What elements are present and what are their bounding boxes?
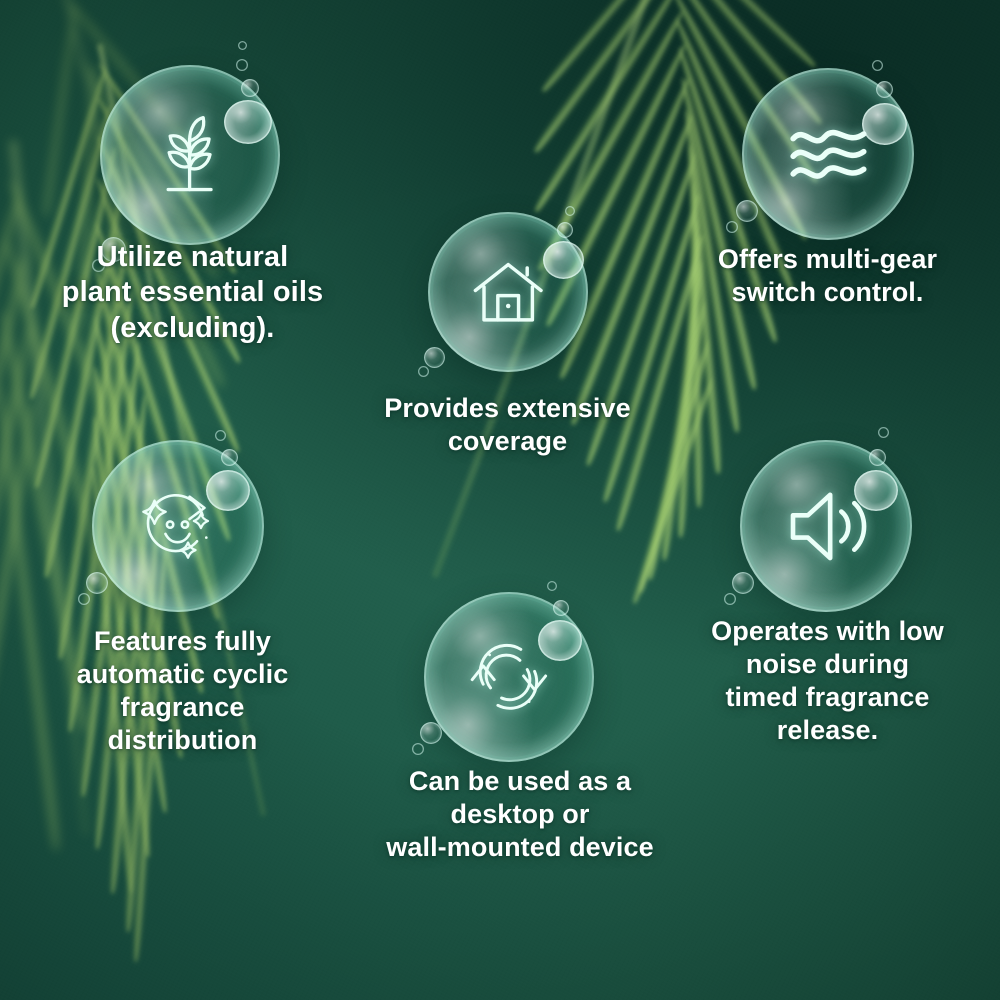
bubble-droplet-tiny [236,59,248,71]
bubble-droplet-tiny [565,206,575,216]
feature-caption-multi-gear-switch: Offers multi-gear switch control. [655,243,1000,309]
feature-caption-natural-oils: Utilize natural plant essential oils (ex… [20,240,365,346]
bubble-droplet-tiny [238,41,247,50]
feature-bubble-automatic-cyclic[interactable] [92,440,264,612]
feature-bubble-low-noise[interactable] [740,440,912,612]
bubble-droplet-tiny [872,60,883,71]
bubble-droplet [538,620,582,661]
bubble-droplet-small [869,449,886,466]
bubble-droplet [224,100,272,144]
bubble-droplet [862,103,907,145]
bubble-droplet-small [241,79,259,97]
bubble-droplet-tiny [78,593,90,605]
feature-caption-extensive-coverage: Provides extensive coverage [335,392,680,458]
bubble-droplet-small [557,222,573,238]
bubble-droplet [543,241,584,279]
bubble-droplet [206,470,250,511]
bubble-droplet-small [86,572,108,594]
feature-bubble-desktop-or-wall[interactable] [424,592,594,762]
feature-caption-desktop-or-wall: Can be used as a desktop or wall-mounted… [345,765,695,864]
bubble-droplet-small [553,600,569,616]
bubble-droplet-tiny [878,427,889,438]
bubble-droplet-tiny [412,743,424,755]
speaker-icon [740,440,912,612]
bubble-droplet-small [736,200,758,222]
bubble-droplet-tiny [724,593,736,605]
bubble-droplet-small [876,81,893,98]
product-feature-infographic: Utilize natural plant essential oils (ex… [0,0,1000,1000]
bubble-droplet [854,470,898,511]
bubble-droplet-tiny [418,366,429,377]
bubble-droplet-tiny [547,581,557,591]
smiley-cycle-icon [92,440,264,612]
recycle-arrows-icon [424,592,594,762]
bubble-droplet-small [221,449,238,466]
bubble-droplet-small [420,722,442,744]
bubble-droplet-small [732,572,754,594]
feature-caption-low-noise: Operates with low noise during timed fra… [655,615,1000,747]
feature-caption-automatic-cyclic: Features fully automatic cyclic fragranc… [10,625,355,757]
bubble-droplet-tiny [215,430,226,441]
bubble-droplet-tiny [726,221,738,233]
bubble-droplet-small [424,347,445,368]
